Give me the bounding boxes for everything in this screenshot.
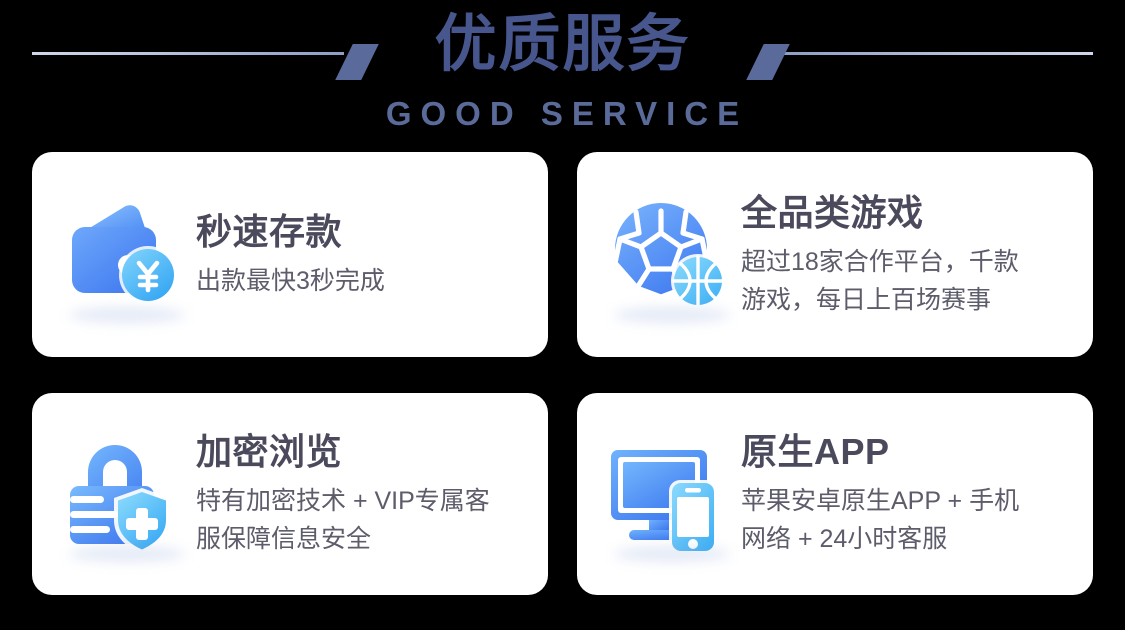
- card-title: 加密浏览: [196, 430, 530, 474]
- page-subtitle: GOOD SERVICE: [0, 94, 1125, 134]
- wallet-yen-icon: [58, 189, 190, 321]
- card-text-block: 秒速存款 出款最快3秒完成: [190, 210, 530, 300]
- card-text-block: 原生APP 苹果安卓原生APP + 手机 网络 + 24小时客服: [735, 430, 1075, 558]
- card-description-line: 超过18家合作平台，千款: [741, 243, 1075, 281]
- card-description: 超过18家合作平台，千款 游戏，每日上百场赛事: [741, 243, 1075, 319]
- icon-shadow: [69, 546, 185, 562]
- card-description-line: 特有加密技术 + VIP专属客: [196, 482, 530, 520]
- icon-shadow: [614, 546, 730, 562]
- card-description: 特有加密技术 + VIP专属客 服保障信息安全: [196, 482, 530, 558]
- monitor-phone-icon: [603, 428, 735, 560]
- feature-card-deposit[interactable]: 秒速存款 出款最快3秒完成: [32, 152, 548, 357]
- card-description: 出款最快3秒完成: [196, 262, 530, 300]
- lock-shield-icon: [58, 428, 190, 560]
- card-title: 秒速存款: [196, 210, 530, 254]
- card-description-line: 游戏，每日上百场赛事: [741, 281, 1075, 319]
- page-header: 优质服务 GOOD SERVICE: [0, 0, 1125, 145]
- card-description-line: 网络 + 24小时客服: [741, 520, 1075, 558]
- card-title: 全品类游戏: [741, 191, 1075, 235]
- card-text-block: 全品类游戏 超过18家合作平台，千款 游戏，每日上百场赛事: [735, 191, 1075, 319]
- feature-card-native-app[interactable]: 原生APP 苹果安卓原生APP + 手机 网络 + 24小时客服: [577, 393, 1093, 595]
- icon-shadow: [614, 307, 730, 323]
- feature-card-encryption[interactable]: 加密浏览 特有加密技术 + VIP专属客 服保障信息安全: [32, 393, 548, 595]
- card-description-line: 服保障信息安全: [196, 520, 530, 558]
- card-description-line: 苹果安卓原生APP + 手机: [741, 482, 1075, 520]
- card-title: 原生APP: [741, 430, 1075, 474]
- page-title: 优质服务: [0, 6, 1125, 84]
- card-description: 苹果安卓原生APP + 手机 网络 + 24小时客服: [741, 482, 1075, 558]
- icon-shadow: [69, 307, 185, 323]
- soccer-basketball-icon: [603, 189, 735, 321]
- feature-card-grid: 秒速存款 出款最快3秒完成: [32, 152, 1093, 595]
- poster-stage: 优质服务 GOOD SERVICE: [0, 0, 1125, 630]
- card-text-block: 加密浏览 特有加密技术 + VIP专属客 服保障信息安全: [190, 430, 530, 558]
- feature-card-games[interactable]: 全品类游戏 超过18家合作平台，千款 游戏，每日上百场赛事: [577, 152, 1093, 357]
